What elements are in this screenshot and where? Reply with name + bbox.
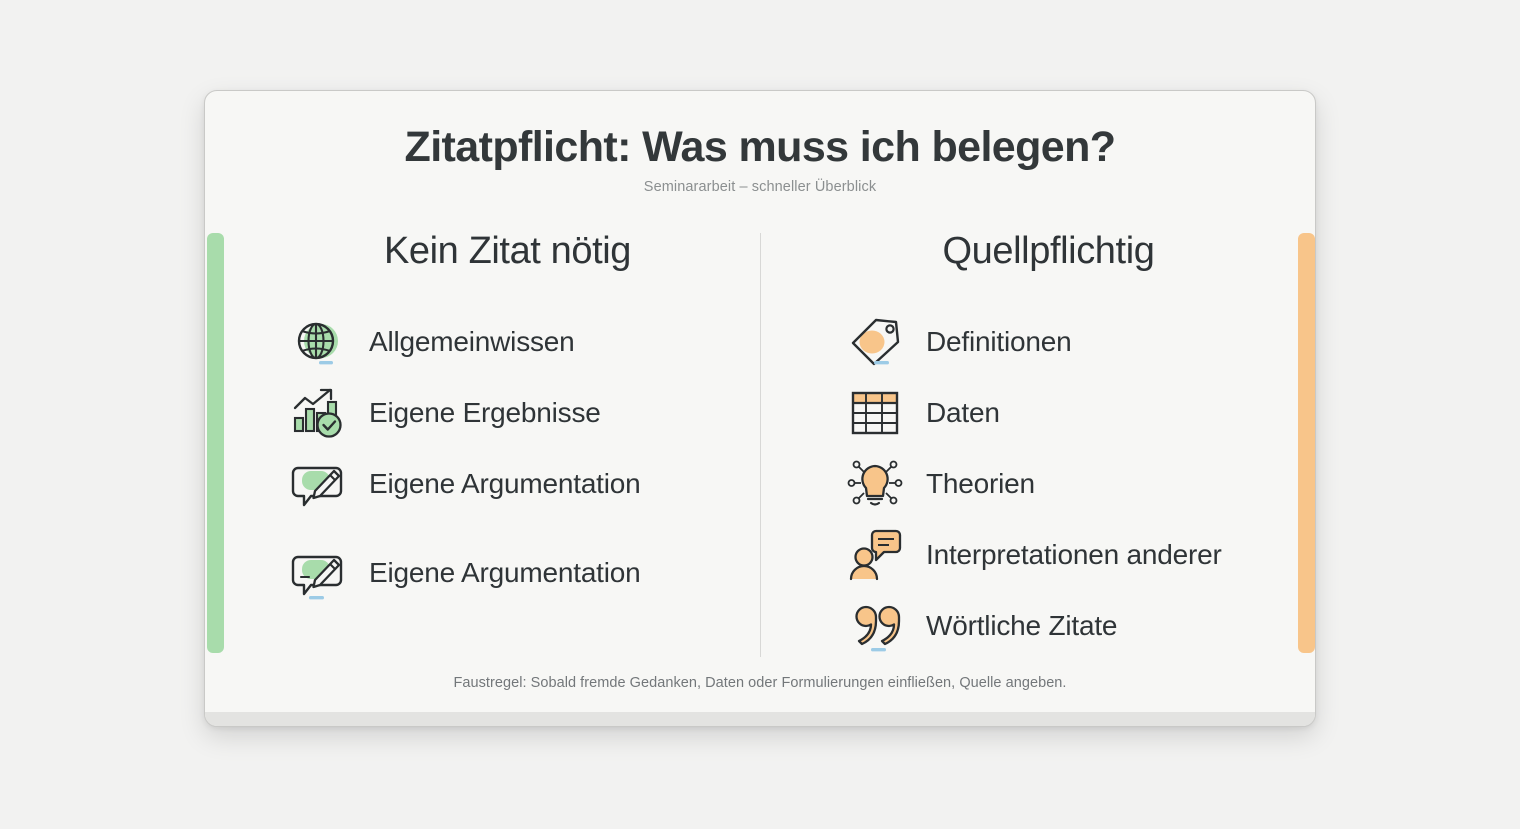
column-heading-left: Kein Zitat nötig: [285, 231, 730, 273]
lightbulb-icon: [846, 455, 904, 513]
list-item: Theorien: [846, 449, 1275, 520]
list-item-label: Eigene Ergebnisse: [369, 397, 601, 429]
accent-bar-left: [207, 233, 224, 653]
quotation-marks-icon: [846, 597, 904, 655]
page-title: Zitatpflicht: Was muss ich belegen?: [205, 123, 1315, 171]
card-header: Zitatpflicht: Was muss ich belegen? Semi…: [205, 123, 1315, 195]
list-item: Wörtliche Zitate: [846, 591, 1275, 662]
speech-bubble-pencil-icon: [289, 455, 347, 513]
table-icon: [846, 384, 904, 442]
item-list-left: Allgemeinwissen: [285, 307, 730, 609]
bar-chart-check-icon: [289, 384, 347, 442]
list-item: Definitionen: [846, 307, 1275, 378]
list-item-label: Definitionen: [926, 326, 1071, 358]
list-item: Eigene Argumentation: [289, 449, 730, 520]
list-item-label: Allgemeinwissen: [369, 326, 575, 358]
card-inner: Zitatpflicht: Was muss ich belegen? Semi…: [205, 91, 1315, 726]
item-list-right: Definitionen: [840, 307, 1275, 662]
list-item-label: Theorien: [926, 468, 1035, 500]
list-item: Daten: [846, 378, 1275, 449]
speech-bubble-pencil-icon: [289, 544, 347, 602]
list-item: Eigene Argumentation: [289, 538, 730, 609]
person-speech-bubble-icon: [846, 526, 904, 584]
list-item: Allgemeinwissen: [289, 307, 730, 378]
column-citation-required: Quellpflichtig Defini: [760, 231, 1315, 661]
list-item-label: Eigene Argumentation: [369, 557, 641, 589]
page-subtitle: Seminararbeit – schneller Überblick: [205, 179, 1315, 195]
list-item: Interpretationen anderer: [846, 520, 1275, 591]
accent-bar-right: [1298, 233, 1315, 653]
tag-icon: [846, 313, 904, 371]
list-item-label: Interpretationen anderer: [926, 539, 1222, 571]
list-item: Eigene Ergebnisse: [289, 378, 730, 449]
footer-note: Faustregel: Sobald fremde Gedanken, Date…: [205, 675, 1315, 691]
card-bottom-strip: [205, 712, 1315, 726]
list-item-label: Daten: [926, 397, 1000, 429]
slide-canvas: Zitatpflicht: Was muss ich belegen? Semi…: [0, 0, 1520, 829]
columns-container: Kein Zitat nötig: [205, 231, 1315, 661]
list-item-label: Eigene Argumentation: [369, 468, 641, 500]
column-heading-right: Quellpflichtig: [840, 231, 1275, 273]
info-card: Zitatpflicht: Was muss ich belegen? Semi…: [204, 90, 1316, 727]
list-item-label: Wörtliche Zitate: [926, 610, 1117, 642]
column-no-citation: Kein Zitat nötig: [205, 231, 760, 661]
globe-icon: [289, 313, 347, 371]
